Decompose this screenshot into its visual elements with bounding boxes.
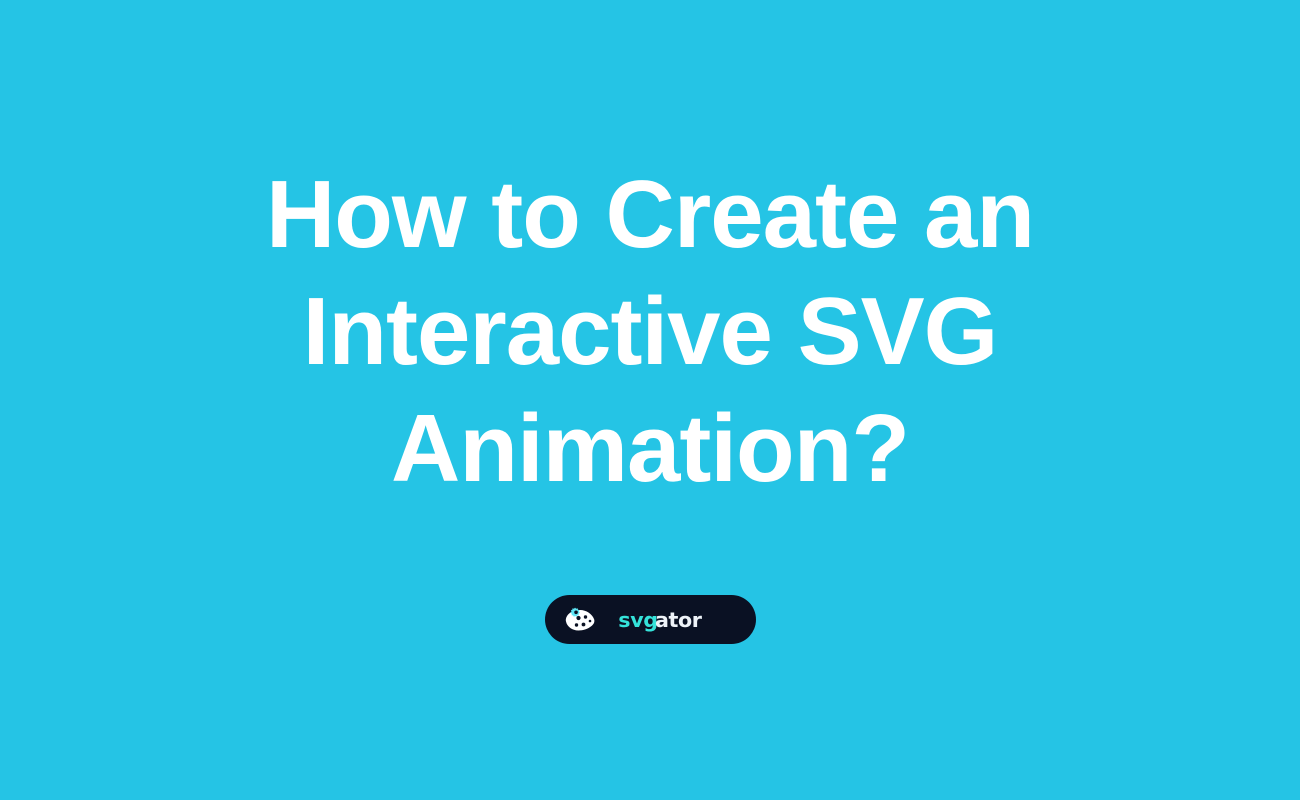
svgator-logo-badge[interactable]: svg ator <box>545 595 756 644</box>
wordmark-svg-text: svg <box>618 607 657 631</box>
page-title: How to Create an Interactive SVG Animati… <box>150 156 1150 507</box>
wordmark-ator-text: ator <box>655 607 703 631</box>
headline-line-3: Animation? <box>150 390 1150 507</box>
headline-line-2: Interactive SVG <box>150 273 1150 390</box>
svgator-wordmark: svg ator <box>606 607 730 633</box>
svgator-gator-icon <box>565 607 596 633</box>
brand-logo: svg ator <box>545 595 756 644</box>
headline-line-1: How to Create an <box>150 156 1150 273</box>
poster-canvas: How to Create an Interactive SVG Animati… <box>0 0 1300 800</box>
